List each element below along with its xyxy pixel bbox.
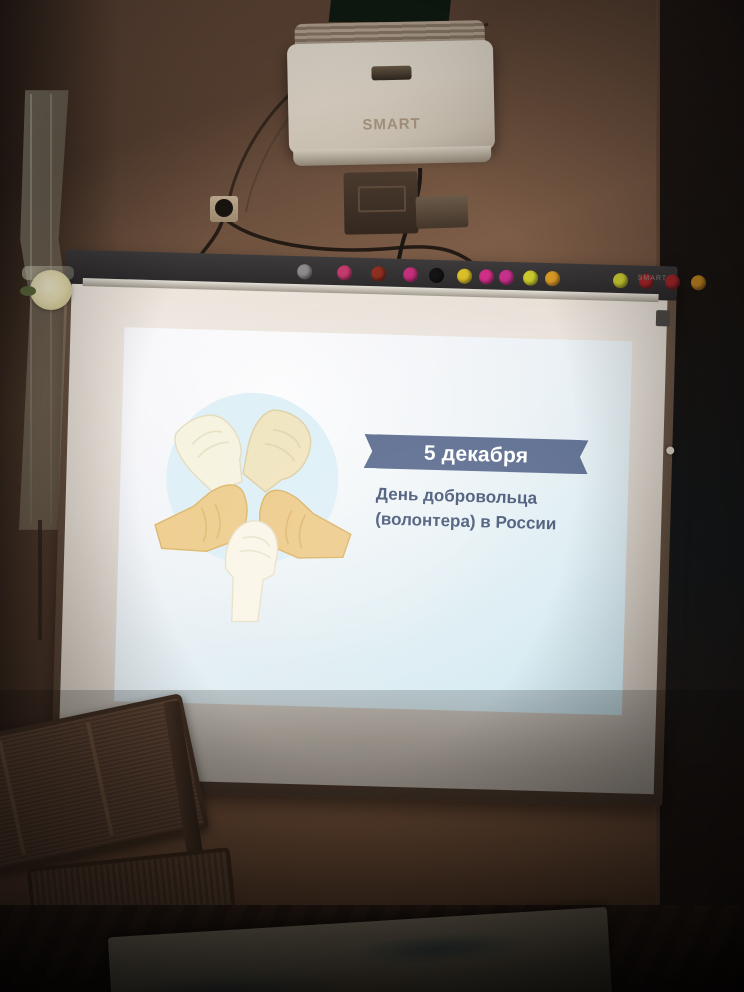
ribbon-date-label: 5 декабря bbox=[424, 442, 529, 466]
wall-dark-panel bbox=[329, 0, 452, 22]
magnet-magenta-2[interactable] bbox=[499, 270, 514, 285]
subtitle-line-2: (волонтера) в России bbox=[375, 507, 612, 538]
projector-mount-bracket bbox=[343, 171, 418, 234]
magnet-yellow[interactable] bbox=[523, 270, 538, 285]
projector-brand-label: SMART bbox=[288, 114, 494, 135]
magnet-magenta[interactable] bbox=[403, 267, 418, 282]
five-fists-bump-graphic bbox=[148, 390, 355, 645]
whiteboard-brand-label: SMART bbox=[638, 275, 668, 283]
photo-scene: SMART bbox=[0, 0, 744, 992]
projector-base bbox=[293, 146, 491, 166]
whiteboard-side-button[interactable] bbox=[656, 310, 670, 326]
curtain-fold bbox=[30, 94, 32, 524]
fist-bottom bbox=[213, 514, 288, 629]
wall-power-outlet[interactable] bbox=[210, 196, 238, 222]
projector-mount-arm bbox=[415, 195, 468, 229]
magnet-smiley[interactable] bbox=[457, 269, 472, 284]
curtain-rod bbox=[38, 520, 42, 640]
curtain-cloth bbox=[14, 90, 76, 530]
slide-text-block: 5 декабря День добровольца (волонтера) в… bbox=[375, 434, 614, 538]
magnet-orange[interactable] bbox=[545, 271, 560, 286]
projector: SMART bbox=[286, 20, 495, 174]
magnet-grey[interactable] bbox=[297, 264, 312, 279]
curtain-flower-decoration bbox=[30, 270, 72, 310]
magnet-pink-2[interactable] bbox=[479, 269, 494, 284]
outlet-plug bbox=[215, 199, 233, 217]
room-right-dark-area bbox=[660, 0, 744, 992]
magnet-pink[interactable] bbox=[337, 265, 352, 280]
sheer-curtain bbox=[6, 90, 92, 550]
projected-slide: 5 декабря День добровольца (волонтера) в… bbox=[114, 327, 632, 715]
projector-body: SMART bbox=[287, 40, 495, 154]
magnet-yellow-2[interactable] bbox=[613, 273, 628, 288]
projector-lens bbox=[371, 66, 411, 81]
date-ribbon: 5 декабря bbox=[377, 434, 576, 474]
magnet-red-figure[interactable] bbox=[371, 266, 386, 281]
slide-subtitle: День добровольца (волонтера) в России bbox=[375, 482, 612, 538]
magnet-black[interactable] bbox=[429, 268, 444, 283]
